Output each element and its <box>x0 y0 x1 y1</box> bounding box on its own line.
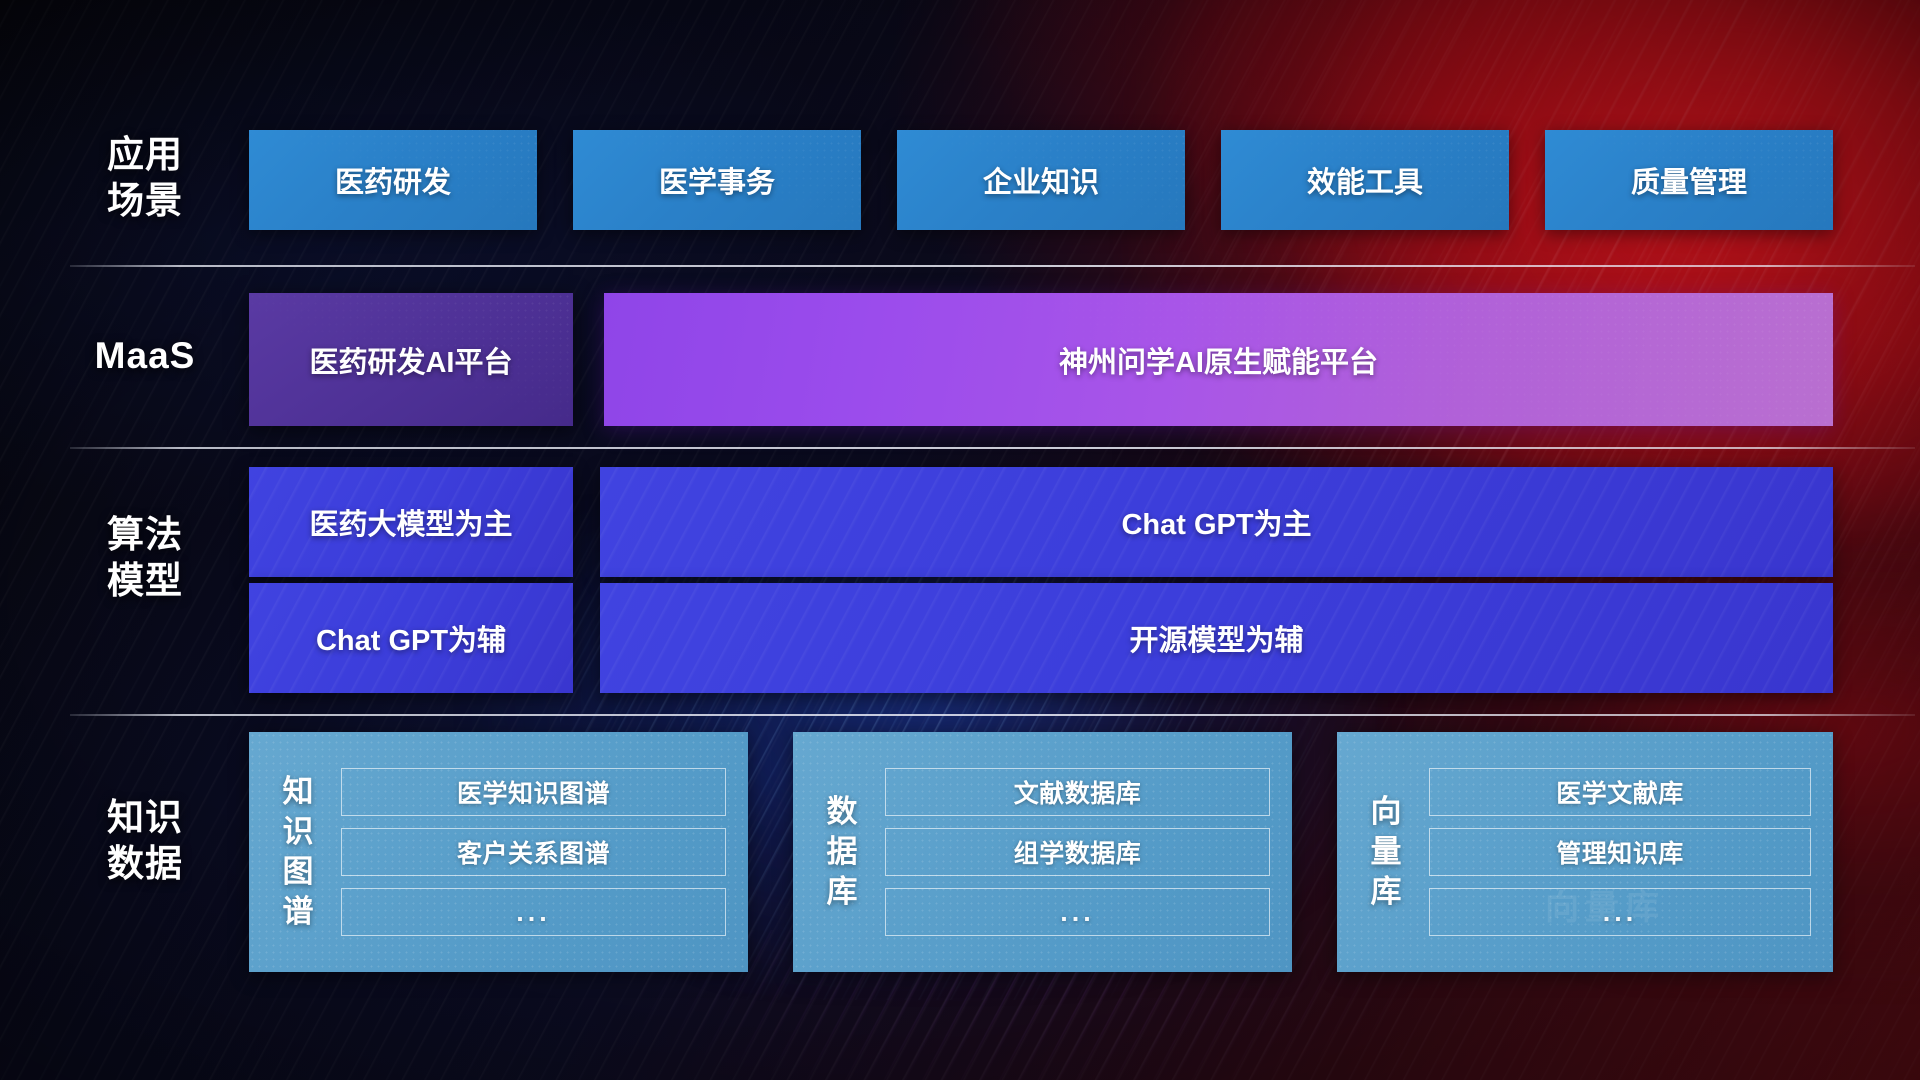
knowledge-card-vertical-label: 向 量 库 <box>1359 792 1413 912</box>
row-label-maas: MaaS <box>60 333 230 379</box>
knowledge-card-item[interactable]: 医学文献库 <box>1429 768 1811 816</box>
knowledge-card-item-list: 医学文献库 管理知识库 ... <box>1413 750 1833 954</box>
app-box-label: 医药研发 <box>335 159 451 201</box>
knowledge-card-item[interactable]: 组学数据库 <box>885 828 1270 876</box>
app-box-medical-affairs[interactable]: 医学事务 <box>573 130 861 230</box>
app-box-enterprise-knowledge[interactable]: 企业知识 <box>897 130 1185 230</box>
knowledge-card-item[interactable]: 医学知识图谱 <box>341 768 726 816</box>
knowledge-card-vertical-label: 知 识 图 谱 <box>271 772 325 932</box>
maas-box-label: 神州问学AI原生赋能平台 <box>1059 339 1378 381</box>
knowledge-card-item-list: 医学知识图谱 客户关系图谱 ... <box>325 750 748 954</box>
app-box-label: 医学事务 <box>659 159 775 201</box>
diagram-canvas: 应用 场景 医药研发 医学事务 企业知识 效能工具 质量管理 MaaS 医药研发… <box>0 0 1920 1080</box>
app-box-drug-rnd[interactable]: 医药研发 <box>249 130 537 230</box>
knowledge-card-item-more[interactable]: ... <box>885 888 1270 936</box>
knowledge-card-item-more[interactable]: ... <box>341 888 726 936</box>
algo-box-label: 医药大模型为主 <box>309 501 512 543</box>
divider-row1-row2 <box>70 265 1915 267</box>
knowledge-card-item-list: 文献数据库 组学数据库 ... <box>869 750 1292 954</box>
divider-row3-row4 <box>70 714 1915 716</box>
app-box-label: 质量管理 <box>1631 159 1747 201</box>
row-label-knowledge-data: 知识 数据 <box>60 795 230 887</box>
app-box-label: 效能工具 <box>1307 159 1423 201</box>
maas-box-drug-rnd-ai-platform[interactable]: 医药研发AI平台 <box>249 293 573 426</box>
algo-box-open-source-secondary[interactable]: 开源模型为辅 <box>600 583 1833 693</box>
knowledge-card-vertical-label: 数 据 库 <box>815 792 869 912</box>
knowledge-card-item-more[interactable]: ... <box>1429 888 1811 936</box>
algo-box-label: Chat GPT为主 <box>1121 501 1311 543</box>
algo-box-label: Chat GPT为辅 <box>316 617 506 659</box>
row-label-algorithm-models: 算法 模型 <box>60 512 230 604</box>
algo-box-chatgpt-secondary[interactable]: Chat GPT为辅 <box>249 583 573 693</box>
knowledge-card-vector-store[interactable]: 向 量 库 医学文献库 管理知识库 ... <box>1337 732 1833 972</box>
algo-box-chatgpt-primary[interactable]: Chat GPT为主 <box>600 467 1833 577</box>
knowledge-card-item[interactable]: 管理知识库 <box>1429 828 1811 876</box>
algo-box-label: 开源模型为辅 <box>1129 617 1303 659</box>
knowledge-card-item[interactable]: 客户关系图谱 <box>341 828 726 876</box>
maas-box-shenzhou-wenxue-platform[interactable]: 神州问学AI原生赋能平台 <box>604 293 1833 426</box>
knowledge-card-item[interactable]: 文献数据库 <box>885 768 1270 816</box>
app-box-quality-management[interactable]: 质量管理 <box>1545 130 1833 230</box>
divider-row2-row3 <box>70 447 1915 449</box>
knowledge-card-database[interactable]: 数 据 库 文献数据库 组学数据库 ... <box>793 732 1292 972</box>
algo-box-drug-llm-primary[interactable]: 医药大模型为主 <box>249 467 573 577</box>
app-box-efficiency-tools[interactable]: 效能工具 <box>1221 130 1509 230</box>
maas-box-label: 医药研发AI平台 <box>309 339 512 381</box>
row-label-application-scenarios: 应用 场景 <box>60 132 230 224</box>
knowledge-card-knowledge-graph[interactable]: 知 识 图 谱 医学知识图谱 客户关系图谱 ... <box>249 732 748 972</box>
app-box-label: 企业知识 <box>983 159 1099 201</box>
